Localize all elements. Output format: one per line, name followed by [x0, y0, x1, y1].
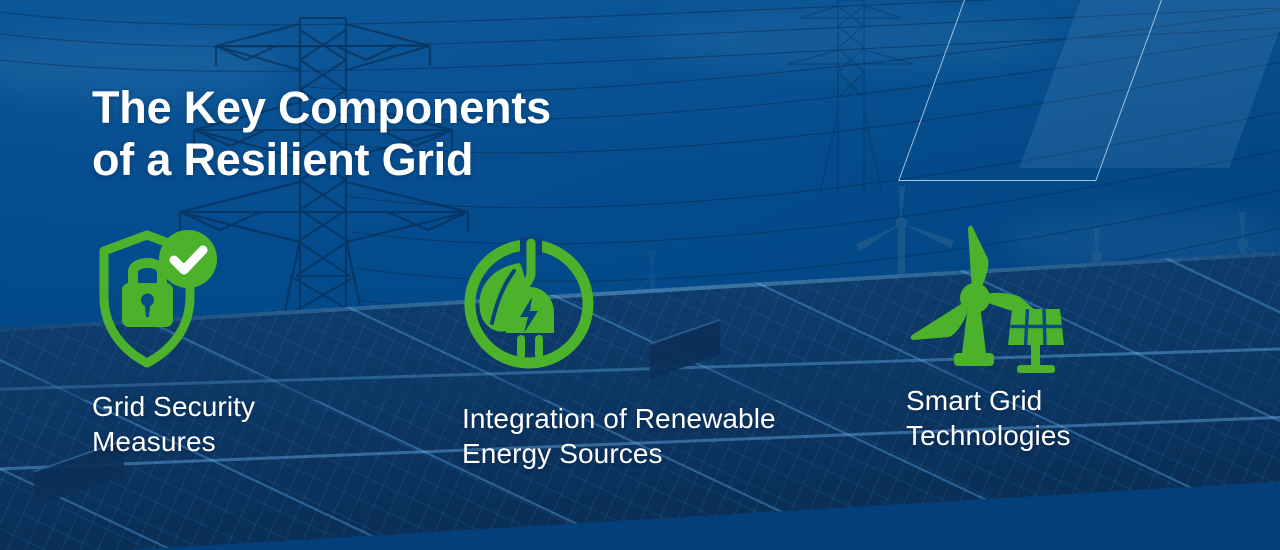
component-label: Smart Grid Technologies [906, 383, 1071, 454]
icon-slot [462, 225, 776, 387]
page-title: The Key Components of a Resilient Grid [92, 82, 551, 186]
component-card-renewable-energy[interactable]: Integration of Renewable Energy Sources [462, 225, 776, 472]
components-row: Grid Security Measures [0, 225, 1280, 475]
component-label: Grid Security Measures [92, 389, 255, 460]
component-card-smart-grid[interactable]: Smart Grid Technologies [906, 225, 1071, 454]
icon-slot [906, 225, 1071, 375]
foreground-content: The Key Components of a Resilient Grid [0, 0, 1280, 550]
shield-lock-check-icon [92, 225, 220, 371]
leaf-plug-circle-icon [462, 237, 596, 371]
infographic-banner: The Key Components of a Resilient Grid [0, 0, 1280, 550]
component-card-grid-security[interactable]: Grid Security Measures [92, 225, 255, 460]
wind-turbine-solar-panel-icon [906, 225, 1066, 377]
component-label: Integration of Renewable Energy Sources [462, 401, 776, 472]
icon-slot [92, 225, 255, 375]
